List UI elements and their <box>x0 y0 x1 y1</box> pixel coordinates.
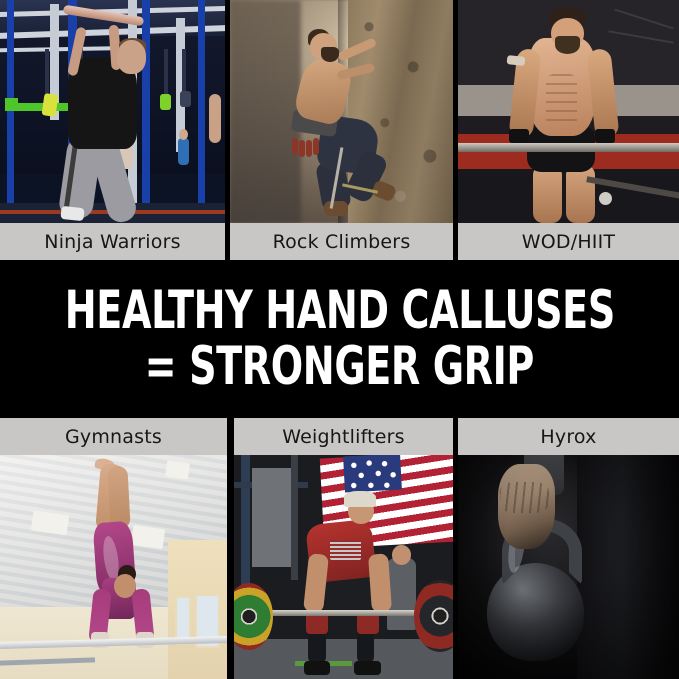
blue-rig-post <box>142 0 150 223</box>
label-wod-hiit: WOD/HIIT <box>458 223 679 260</box>
photo-cell-gymnasts <box>0 455 227 679</box>
ceiling-panel <box>165 460 190 479</box>
rig-upright <box>241 455 250 585</box>
background-person-head <box>392 545 412 565</box>
headline-line-1: HEALTHY HAND CALLUSES <box>64 284 614 338</box>
climbing-shoe <box>324 201 349 217</box>
gymnast-scene <box>0 455 227 679</box>
column-divider <box>227 455 234 679</box>
lifter-arm <box>368 553 392 612</box>
gym-floor <box>234 639 453 679</box>
shirt-flag-graphic <box>330 540 361 560</box>
headline-line-2: = STRONGER GRIP <box>145 340 534 394</box>
wrist-wrap <box>509 129 529 142</box>
label-hyrox: Hyrox <box>458 418 679 455</box>
weightlifter-scene <box>234 455 453 679</box>
lifter-shoe <box>304 661 330 674</box>
athlete-head <box>117 40 146 73</box>
bottom-label-row: Gymnasts Weightlifters Hyrox <box>0 418 679 455</box>
athlete-leg <box>566 165 595 223</box>
background-person <box>178 138 189 165</box>
harness-gear <box>299 140 305 157</box>
kettlebell-scene <box>458 455 679 679</box>
photo-cell-rock-climbers <box>230 0 453 223</box>
label-weightlifters: Weightlifters <box>234 418 453 455</box>
hanging-grip-hold <box>160 94 171 110</box>
hanging-strap <box>164 49 168 98</box>
rock-climber-scene <box>230 0 453 223</box>
wod-hiit-scene <box>458 0 679 223</box>
top-label-row: Ninja Warriors Rock Climbers WOD/HIIT <box>0 223 679 260</box>
background-rock-column <box>230 0 301 223</box>
label-gymnasts: Gymnasts <box>0 418 227 455</box>
hanging-grip-hold <box>180 91 191 107</box>
flag-stars <box>343 455 402 492</box>
photo-cell-ninja-warriors <box>0 0 225 223</box>
blue-rig-post <box>7 0 14 223</box>
athlete-leg <box>533 165 562 223</box>
vignette-overlay <box>458 455 679 679</box>
hanging-strap <box>182 49 186 94</box>
background-person <box>209 94 220 143</box>
harness-gear <box>292 138 298 155</box>
pull-up-bar <box>458 143 679 152</box>
wrist-wrap <box>595 129 615 142</box>
label-divider <box>227 418 234 455</box>
infographic-poster: Ninja Warriors Rock Climbers WOD/HIIT HE… <box>0 0 679 679</box>
lifter-shoe <box>354 661 380 674</box>
gym-door <box>252 468 291 567</box>
background-person <box>387 558 415 630</box>
hanging-strap <box>45 49 49 98</box>
label-ninja-warriors: Ninja Warriors <box>0 223 225 260</box>
blue-rig-post <box>198 0 205 223</box>
label-rock-climbers: Rock Climbers <box>230 223 453 260</box>
hanging-grip-hold <box>41 93 58 117</box>
ninja-warrior-scene <box>0 0 225 223</box>
harness-gear <box>306 140 312 157</box>
harness-gear <box>313 138 319 155</box>
photo-cell-hyrox <box>458 455 679 679</box>
lifter-calf <box>357 632 375 663</box>
rig-upright <box>291 455 298 580</box>
arm-band <box>506 55 525 66</box>
athlete-abs <box>546 74 577 128</box>
green-obstacle-bar <box>5 98 19 105</box>
headline-banner: HEALTHY HAND CALLUSES = STRONGER GRIP <box>0 260 679 418</box>
athlete-beard <box>555 36 579 54</box>
gymnast-leg <box>107 466 131 530</box>
ceiling-panel <box>130 525 164 549</box>
top-photo-row <box>0 0 679 223</box>
photo-cell-weightlifters <box>234 455 453 679</box>
lifter-headband <box>344 491 377 507</box>
bottom-photo-row <box>0 455 679 679</box>
photo-cell-wod-hiit <box>458 0 679 223</box>
lifter-calf <box>308 632 326 663</box>
